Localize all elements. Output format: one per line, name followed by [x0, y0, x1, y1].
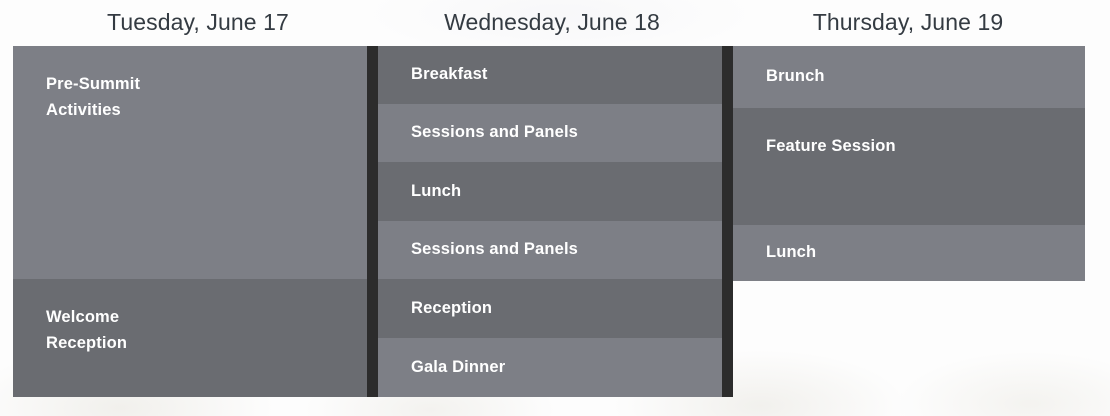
schedule-block[interactable]: Pre-Summit Activities [13, 46, 367, 279]
schedule-block-label: Feature Session [733, 108, 908, 160]
schedule-grid: Pre-Summit Activities Welcome Reception … [0, 46, 1110, 397]
schedule-block[interactable]: Breakfast [378, 46, 722, 104]
day-header-tuesday: Tuesday, June 17 [8, 0, 388, 46]
schedule-block-label: Reception [378, 296, 504, 322]
schedule-block[interactable]: Feature Session [733, 108, 1085, 225]
day-header-row: Tuesday, June 17 Wednesday, June 18 Thur… [0, 0, 1110, 46]
column-divider [367, 46, 378, 397]
schedule-block[interactable]: Reception [378, 279, 722, 338]
schedule-block-label: Gala Dinner [378, 355, 517, 381]
schedule-block-label: Sessions and Panels [378, 237, 590, 263]
day-column-tuesday: Pre-Summit Activities Welcome Reception [13, 46, 367, 397]
column-divider [722, 46, 733, 397]
schedule-block-label: Lunch [733, 240, 828, 266]
schedule-block[interactable]: Lunch [378, 162, 722, 221]
schedule-block[interactable]: Gala Dinner [378, 338, 722, 397]
agenda-board: Tuesday, June 17 Wednesday, June 18 Thur… [0, 0, 1110, 416]
schedule-block[interactable]: Sessions and Panels [378, 104, 722, 162]
schedule-block-label: Sessions and Panels [378, 120, 590, 146]
day-column-thursday: Brunch Feature Session Lunch [733, 46, 1085, 281]
schedule-block-label: Lunch [378, 179, 473, 205]
day-column-wednesday: Breakfast Sessions and Panels Lunch Sess… [378, 46, 722, 397]
schedule-block-label: Brunch [733, 64, 837, 90]
schedule-block-label: Welcome Reception [13, 279, 139, 356]
schedule-block[interactable]: Brunch [733, 46, 1085, 108]
day-header-thursday: Thursday, June 19 [728, 0, 1088, 46]
schedule-block-label: Pre-Summit Activities [13, 46, 152, 123]
schedule-block[interactable]: Lunch [733, 225, 1085, 281]
schedule-block[interactable]: Welcome Reception [13, 279, 367, 397]
schedule-block[interactable]: Sessions and Panels [378, 221, 722, 279]
day-header-wednesday: Wednesday, June 18 [372, 0, 732, 46]
schedule-block-label: Breakfast [378, 62, 500, 88]
